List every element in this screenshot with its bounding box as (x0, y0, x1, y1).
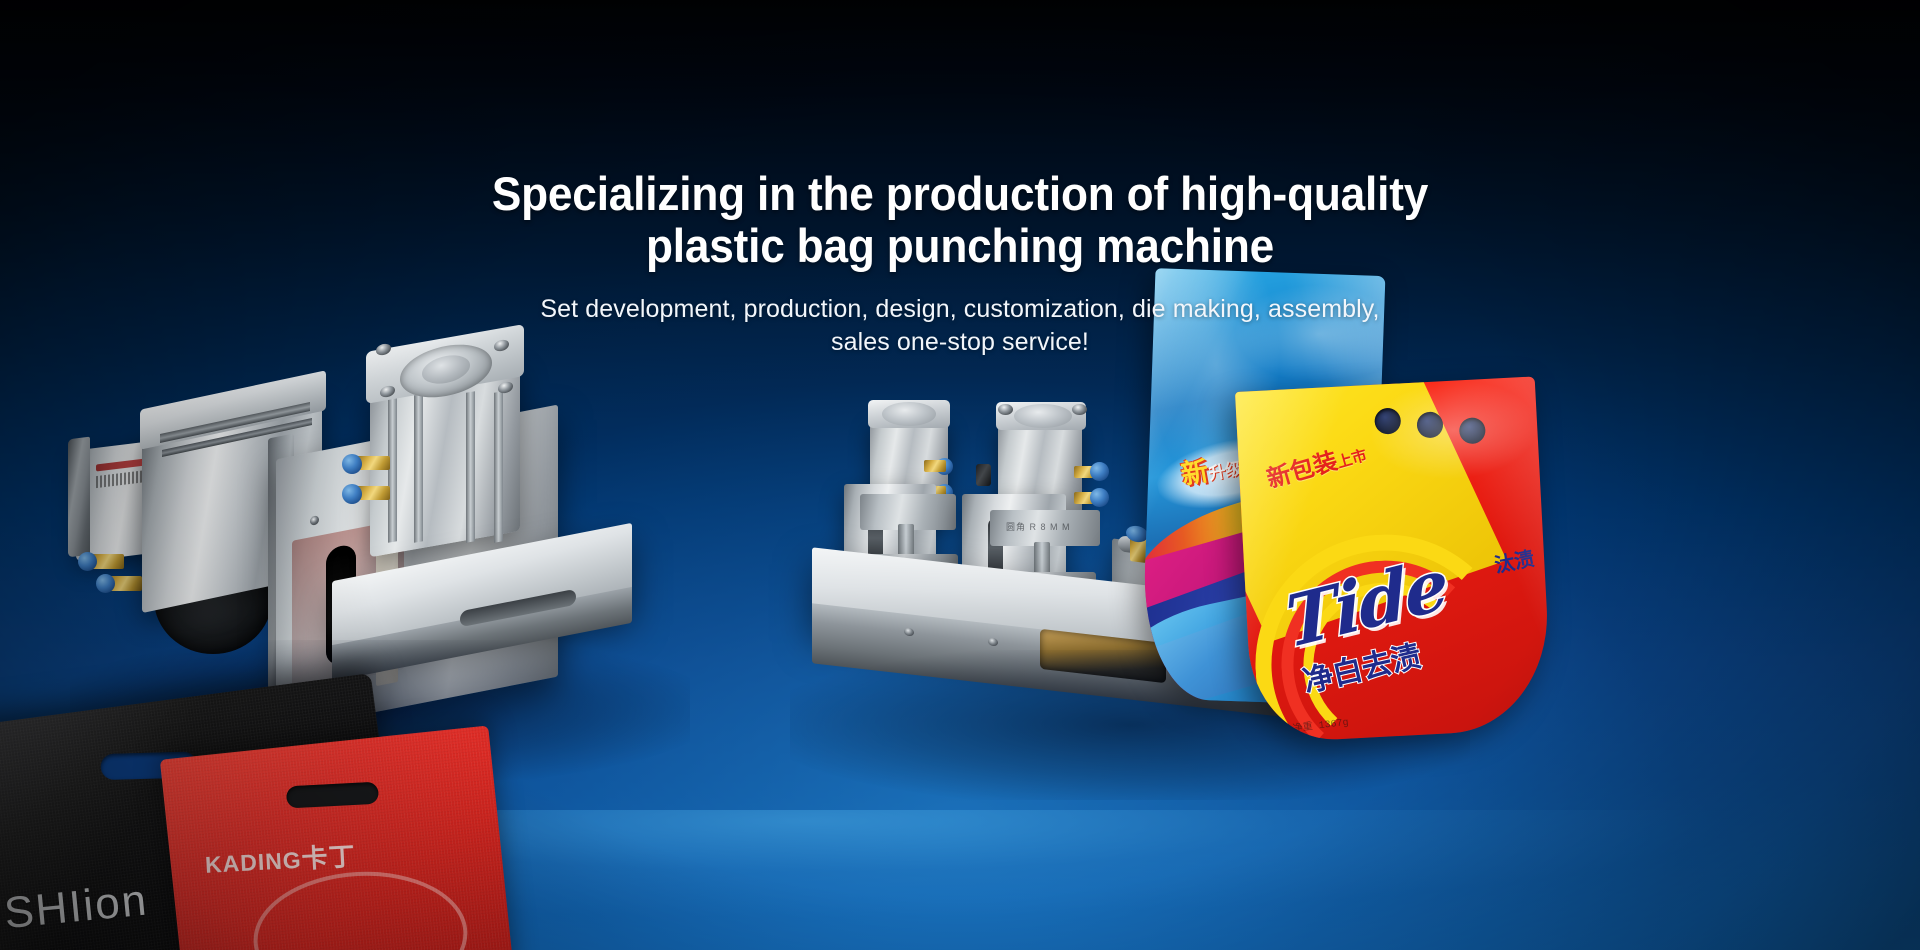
page-subtitle: Set development, production, design, cus… (0, 293, 1920, 359)
background-vignette (0, 0, 1920, 950)
hero-text-block: Specializing in the production of high-q… (0, 168, 1920, 359)
hero-banner: TEL:0755-84… 东莞市… 圆角 R 8 M M (0, 0, 1920, 950)
page-title: Specializing in the production of high-q… (58, 168, 1863, 272)
subtitle-line-1: Set development, production, design, cus… (0, 293, 1920, 326)
subtitle-line-2: sales one-stop service! (0, 326, 1920, 359)
headline-line-1: Specializing in the production of high-q… (58, 168, 1863, 220)
headline-line-2: plastic bag punching machine (58, 220, 1863, 272)
